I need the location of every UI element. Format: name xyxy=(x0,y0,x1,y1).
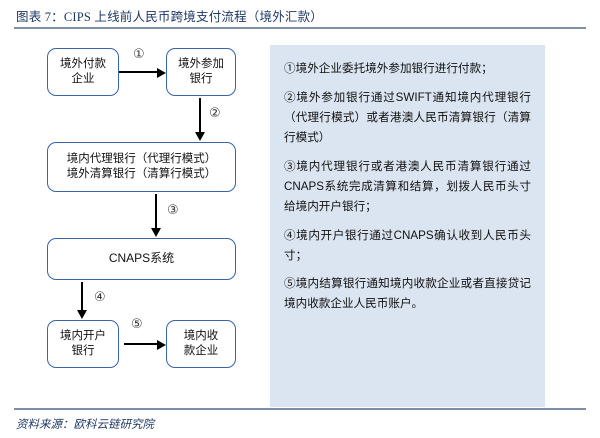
flow-box-overseas-payer: 境外付款 企业 xyxy=(47,48,119,96)
arrow-head-down-icon xyxy=(151,228,161,237)
arrow-step-4 xyxy=(81,282,83,312)
explanation-item: ②境外参加银行通过SWIFT通知境内代理银行（代理行模式）或者港澳人民币清算银行… xyxy=(284,88,531,148)
flow-box-agent-and-clearing-bank: 境内代理银行（代理行模式） 境外清算银行（清算行模式） xyxy=(47,142,236,192)
arrow-head-right-icon xyxy=(157,340,166,350)
arrow-head-down-icon xyxy=(195,132,205,141)
flow-box-cnaps-system: CNAPS系统 xyxy=(47,238,236,280)
explanation-item: ④境内开户银行通过CNAPS确认收到人民币头寸； xyxy=(284,226,531,266)
arrow-step-2 xyxy=(199,98,201,134)
flow-box-label: CNAPS系统 xyxy=(109,251,174,266)
footer-divider xyxy=(14,408,586,410)
step-marker-1: ① xyxy=(133,48,145,61)
explanation-item: ①境外企业委托境外参加银行进行付款； xyxy=(284,59,531,79)
step-marker-3: ③ xyxy=(167,204,179,217)
source-note: 资料来源：欧科云链研究院 xyxy=(16,416,154,432)
page-title: 图表 7：CIPS 上线前人民币跨境支付流程（境外汇款） xyxy=(16,6,323,25)
arrow-head-right-icon xyxy=(157,68,166,78)
step-marker-4: ④ xyxy=(94,291,106,304)
explanation-panel: ①境外企业委托境外参加银行进行付款； ②境外参加银行通过SWIFT通知境内代理银… xyxy=(270,45,545,407)
flowchart-canvas: 境外付款 企业 境外参加 银行 境内代理银行（代理行模式） 境外清算银行（清算行… xyxy=(0,30,600,408)
arrow-head-down-icon xyxy=(77,310,87,319)
step-marker-5: ⑤ xyxy=(131,318,143,331)
flow-box-label: 境内代理银行（代理行模式） 境外清算银行（清算行模式） xyxy=(67,152,217,181)
header-divider xyxy=(14,27,586,29)
explanation-item: ⑤境内结算银行通知境内收款企业或者直接贷记境内收款企业人民币账户。 xyxy=(284,274,531,314)
flow-box-overseas-participating-bank: 境外参加 银行 xyxy=(166,48,236,96)
flow-box-label: 境内收 款企业 xyxy=(184,329,219,358)
flow-box-label: 境外参加 银行 xyxy=(178,57,224,86)
flow-box-domestic-payee-enterprise: 境内收 款企业 xyxy=(166,320,236,368)
arrow-step-1 xyxy=(119,71,157,73)
flow-box-label: 境外付款 企业 xyxy=(60,57,106,86)
step-marker-2: ② xyxy=(209,107,221,120)
flow-box-label: 境内开户 银行 xyxy=(60,329,106,358)
figure-footer: 资料来源：欧科云链研究院 xyxy=(0,408,600,438)
arrow-step-5 xyxy=(124,343,157,345)
arrow-step-3 xyxy=(155,194,157,230)
figure-header: 图表 7：CIPS 上线前人民币跨境支付流程（境外汇款） xyxy=(0,0,600,30)
flow-box-domestic-account-bank: 境内开户 银行 xyxy=(47,320,119,368)
explanation-item: ③境内代理银行或者港澳人民币清算银行通过CNAPS系统完成清算和结算，划拨人民币… xyxy=(284,157,531,217)
